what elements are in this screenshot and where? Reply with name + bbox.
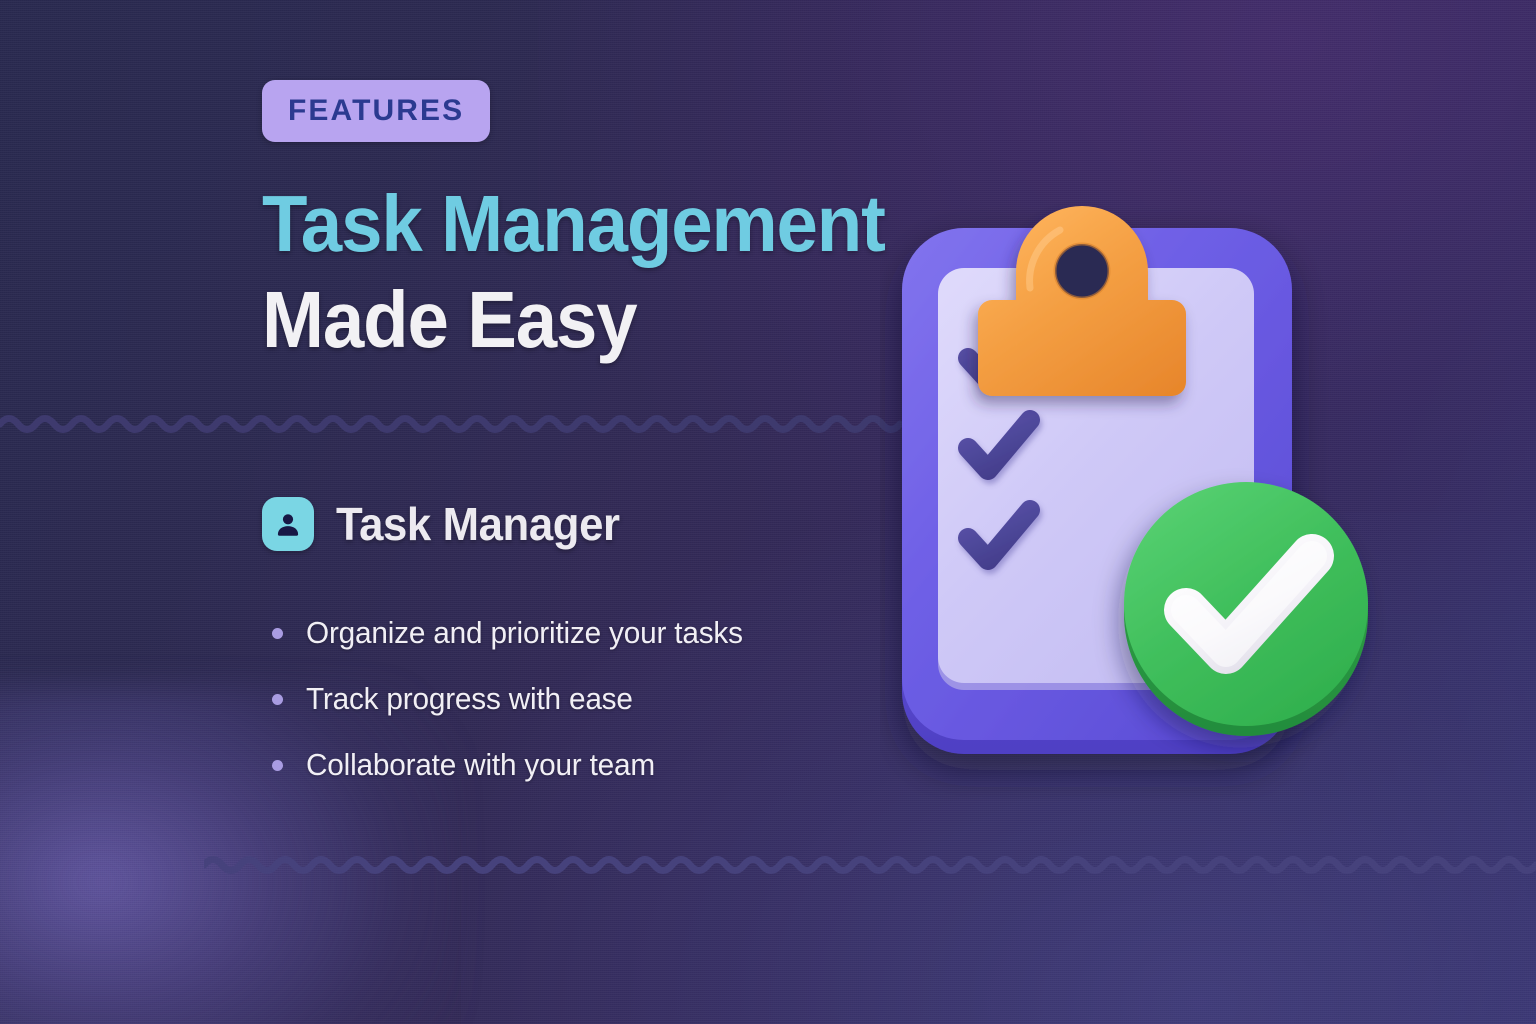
user-icon (262, 497, 314, 551)
task-manager-label: Task Manager (336, 497, 620, 551)
list-item-label: Organize and prioritize your tasks (306, 615, 743, 651)
list-item: Collaborate with your team (272, 732, 761, 798)
page-title-line-1: Task Management (262, 176, 969, 272)
list-item: Organize and prioritize your tasks (272, 600, 761, 666)
task-manager-heading: Task Manager (262, 497, 635, 551)
green-check-badge-icon (1124, 482, 1368, 736)
features-badge-label: FEATURES (288, 94, 464, 128)
bullet-dot-icon (272, 628, 283, 639)
features-badge: FEATURES (262, 80, 490, 142)
bullet-dot-icon (272, 694, 283, 705)
feature-bullet-list: Organize and prioritize your tasks Track… (272, 600, 761, 798)
list-item-label: Track progress with ease (306, 681, 633, 717)
bullet-dot-icon (272, 760, 283, 771)
list-item: Track progress with ease (272, 666, 761, 732)
page-title-line-2: Made Easy (262, 272, 969, 368)
list-item-label: Collaborate with your team (306, 747, 655, 783)
poster-canvas: FEATURES Task Management Made Easy Task … (0, 0, 1536, 1024)
clipboard-illustration (880, 120, 1400, 800)
